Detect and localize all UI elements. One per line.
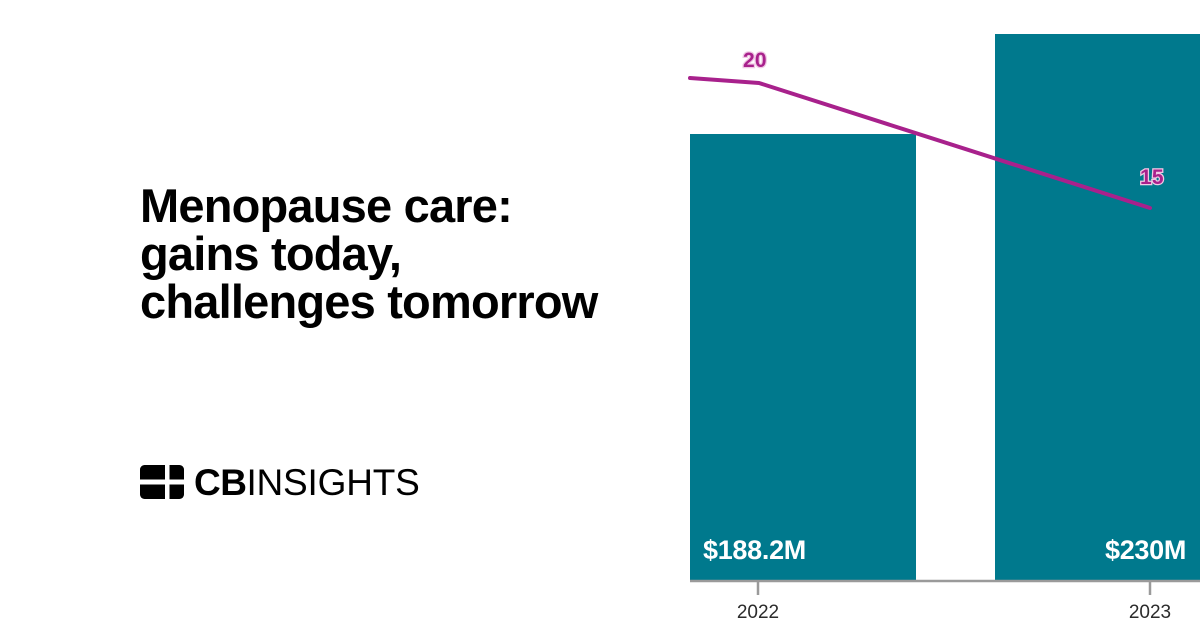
chart-graphics (660, 0, 1200, 628)
axis-label-2022: 2022 (737, 603, 779, 622)
cb-insights-mark-icon (140, 465, 184, 499)
headline-line-1: Menopause care: (140, 182, 660, 230)
page-title: Menopause care: gains today, challenges … (140, 182, 660, 326)
headline-line-2: gains today, (140, 230, 660, 278)
deals-value-label-2022: 20 (743, 50, 767, 71)
logo-cb-text: CB (194, 462, 246, 503)
funding-deals-chart: $188.2M $230M 20 15 2022 2023 (660, 0, 1200, 628)
deals-value-label-2023: 15 (1140, 167, 1164, 188)
bar-value-label-2023: $230M (1105, 537, 1186, 564)
axis-label-2023: 2023 (1129, 603, 1171, 622)
bar-value-label-2022: $188.2M (703, 537, 806, 564)
cb-insights-logo: CBINSIGHTS (140, 461, 420, 503)
bar-2022 (690, 134, 916, 580)
logo-insights-text: INSIGHTS (246, 462, 419, 503)
bar-2023 (995, 34, 1200, 580)
promo-card: Menopause care: gains today, challenges … (0, 0, 1200, 628)
headline-line-3: challenges tomorrow (140, 278, 660, 326)
cb-insights-wordmark: CBINSIGHTS (194, 464, 420, 501)
left-content-panel: Menopause care: gains today, challenges … (0, 0, 660, 628)
